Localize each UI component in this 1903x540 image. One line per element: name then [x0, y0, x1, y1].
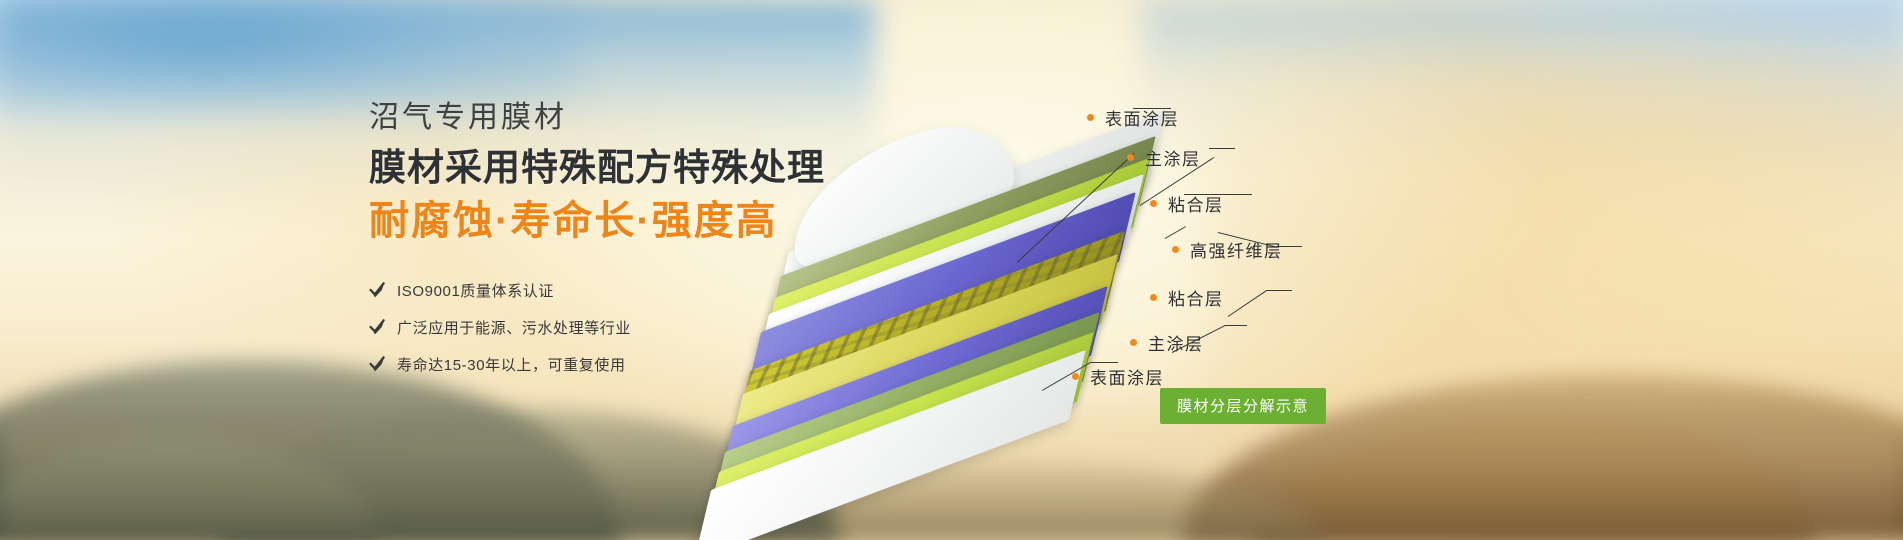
callout-surface-coating-top: 表面涂层: [1087, 105, 1179, 130]
callout-adhesive-bottom: 粘合层: [1150, 285, 1224, 310]
check-mark-icon: [369, 356, 386, 373]
callout-label: 粘合层: [1168, 191, 1224, 216]
callout-dot-icon: [1150, 200, 1157, 207]
list-item-label: ISO9001质量体系认证: [397, 280, 554, 301]
callout-dot-icon: [1087, 114, 1094, 121]
leader-line-6b: [1225, 325, 1247, 326]
callout-main-coating-top: 主涂层: [1127, 145, 1201, 170]
callout-label: 高强纤维层: [1190, 237, 1283, 262]
callout-adhesive-top: 粘合层: [1150, 191, 1224, 216]
callout-label: 表面涂层: [1090, 364, 1164, 389]
callout-dot-icon: [1172, 246, 1179, 253]
callout-dot-icon: [1072, 373, 1079, 380]
callout-main-coating-bottom: 主涂层: [1130, 330, 1204, 355]
callout-label: 粘合层: [1168, 285, 1224, 310]
callout-dot-icon: [1130, 339, 1137, 346]
leader-line-2b: [1209, 148, 1235, 149]
leader-line-7b: [1090, 362, 1118, 363]
background-sky-glow: [0, 0, 580, 110]
list-item-label: 寿命达15-30年以上，可重复使用: [397, 354, 626, 375]
hero-banner: 沼气专用膜材 膜材采用特殊配方特殊处理 耐腐蚀·寿命长·强度高 ISO9001质…: [0, 0, 1903, 540]
callout-label: 主涂层: [1145, 145, 1201, 170]
check-mark-icon: [369, 282, 386, 299]
list-item-label: 广泛应用于能源、污水处理等行业: [397, 317, 631, 338]
callout-high-strength-fiber: 高强纤维层: [1172, 237, 1283, 262]
check-mark-icon: [369, 319, 386, 336]
leader-line-5b: [1266, 290, 1292, 291]
status-badge: 膜材分层分解示意: [1160, 388, 1326, 424]
callout-dot-icon: [1150, 294, 1157, 301]
callout-label: 表面涂层: [1105, 105, 1179, 130]
callout-label: 主涂层: [1148, 330, 1204, 355]
callout-dot-icon: [1127, 154, 1134, 161]
callout-surface-coating-bottom: 表面涂层: [1072, 364, 1164, 389]
